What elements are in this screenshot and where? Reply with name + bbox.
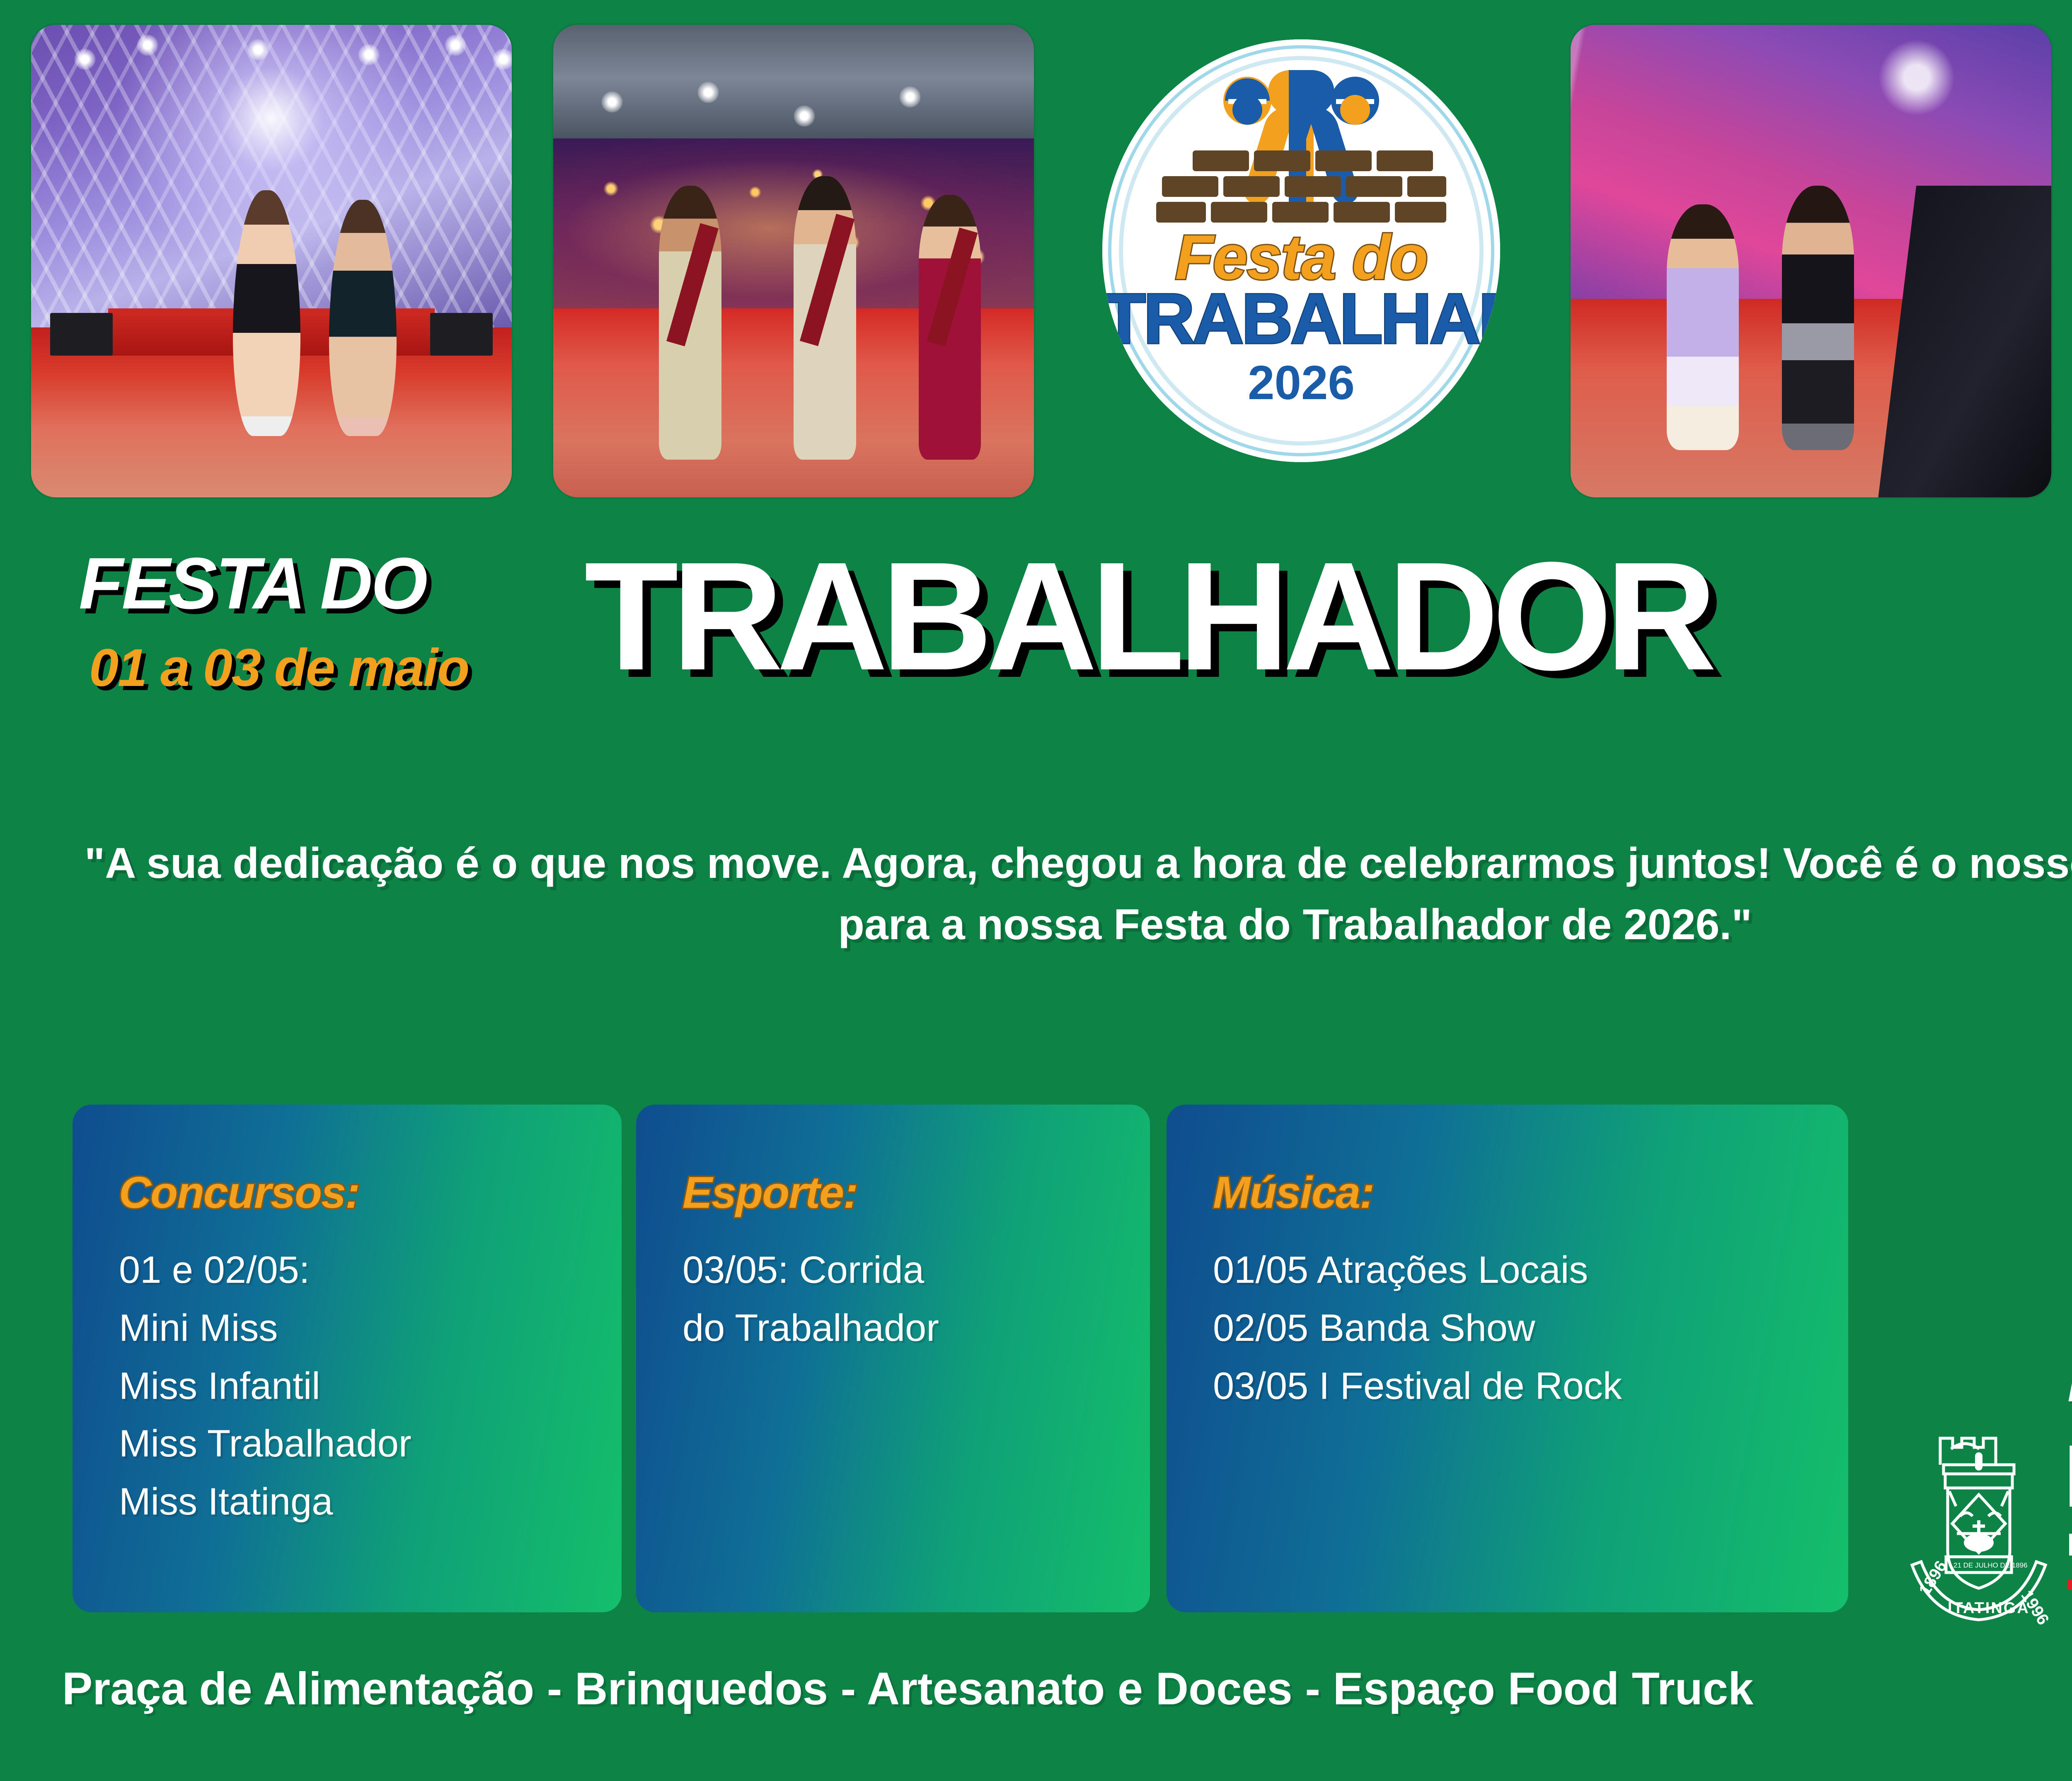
coat-scroll-text: 21 DE JULHO DE 1896 xyxy=(1953,1561,2028,1569)
coat-city-name: ITATINGA xyxy=(1948,1599,2030,1617)
event-quote: "A sua dedicação é o que nos move. Agora… xyxy=(75,833,2072,955)
logo-trabalhador-text: TRABALHADOR xyxy=(1102,283,1500,354)
card-esporte: Esporte: 03/05: Corrida do Trabalhador xyxy=(636,1105,1150,1612)
card-musica-title: Música: xyxy=(1213,1170,1374,1215)
gratuita-label: GRATUITA xyxy=(1973,1132,2072,1213)
list-item: Miss Infantil xyxy=(119,1357,605,1415)
entrada-label: Entrada xyxy=(1973,1069,2072,1132)
photo-strip xyxy=(0,0,2072,518)
list-item: 02/05 Banda Show xyxy=(1213,1299,1832,1357)
photo-pageant-winners xyxy=(553,25,1034,497)
title-date: 01 a 03 de maio xyxy=(89,642,469,695)
list-item: 03/05: Corrida xyxy=(683,1241,1133,1299)
title-trabalhador: TRABALHADOR xyxy=(584,539,1710,693)
festa-do-trabalhador-logo: Festa do TRABALHADOR 2026 xyxy=(1102,39,1500,462)
card-concursos-title: Concursos: xyxy=(119,1170,359,1215)
card-musica: Música: 01/05 Atrações Locais 02/05 Band… xyxy=(1167,1105,1848,1612)
photo-girls-runway xyxy=(1571,25,2051,497)
card-concursos: Concursos: 01 e 02/05: Mini Miss Miss In… xyxy=(73,1105,622,1612)
card-concursos-lines: 01 e 02/05: Mini Miss Miss Infantil Miss… xyxy=(119,1241,605,1531)
logo-year-text: 2026 xyxy=(1102,359,1500,407)
list-item: Miss Trabalhador xyxy=(119,1415,605,1473)
title-festa-do: FESTA DO xyxy=(79,547,426,620)
entrada-gratuita-badge: Entrada GRATUITA xyxy=(1973,1069,2072,1213)
card-musica-lines: 01/05 Atrações Locais 02/05 Banda Show 0… xyxy=(1213,1241,1832,1415)
list-item: 01/05 Atrações Locais xyxy=(1213,1241,1832,1299)
list-item: Miss Itatinga xyxy=(119,1473,605,1531)
list-item: 03/05 I Festival de Rock xyxy=(1213,1357,1832,1415)
prefeitura-color-bar xyxy=(2067,1579,2072,1590)
footer-attractions: Praça de Alimentação - Brinquedos - Arte… xyxy=(62,1666,1753,1712)
photo-miss-trabalhador-duo xyxy=(31,25,512,497)
list-item: do Trabalhador xyxy=(683,1299,1133,1357)
realizacao-label: Realização: xyxy=(2068,1372,2072,1407)
card-esporte-lines: 03/05: Corrida do Trabalhador xyxy=(683,1241,1133,1357)
brick-wall-icon xyxy=(1156,150,1446,227)
list-item: Mini Miss xyxy=(119,1299,605,1357)
prefeitura-sub-label: PREFEITURA xyxy=(2067,1529,2072,1561)
bar-segment-red xyxy=(2067,1579,2072,1590)
list-item: 01 e 02/05: xyxy=(119,1241,605,1299)
card-esporte-title: Esporte: xyxy=(683,1170,857,1215)
main-title-block: FESTA DO 01 a 03 de maio TRABALHADOR xyxy=(0,531,2072,804)
realizacao-block: 1896 1996 ITATINGA 21 DE JULHO DE 1896 R… xyxy=(1881,1364,2072,1629)
prefeitura-city-name: ITATINGA xyxy=(2064,1432,2072,1521)
itatinga-coat-of-arms-icon: 1896 1996 ITATINGA 21 DE JULHO DE 1896 xyxy=(1902,1409,2055,1625)
